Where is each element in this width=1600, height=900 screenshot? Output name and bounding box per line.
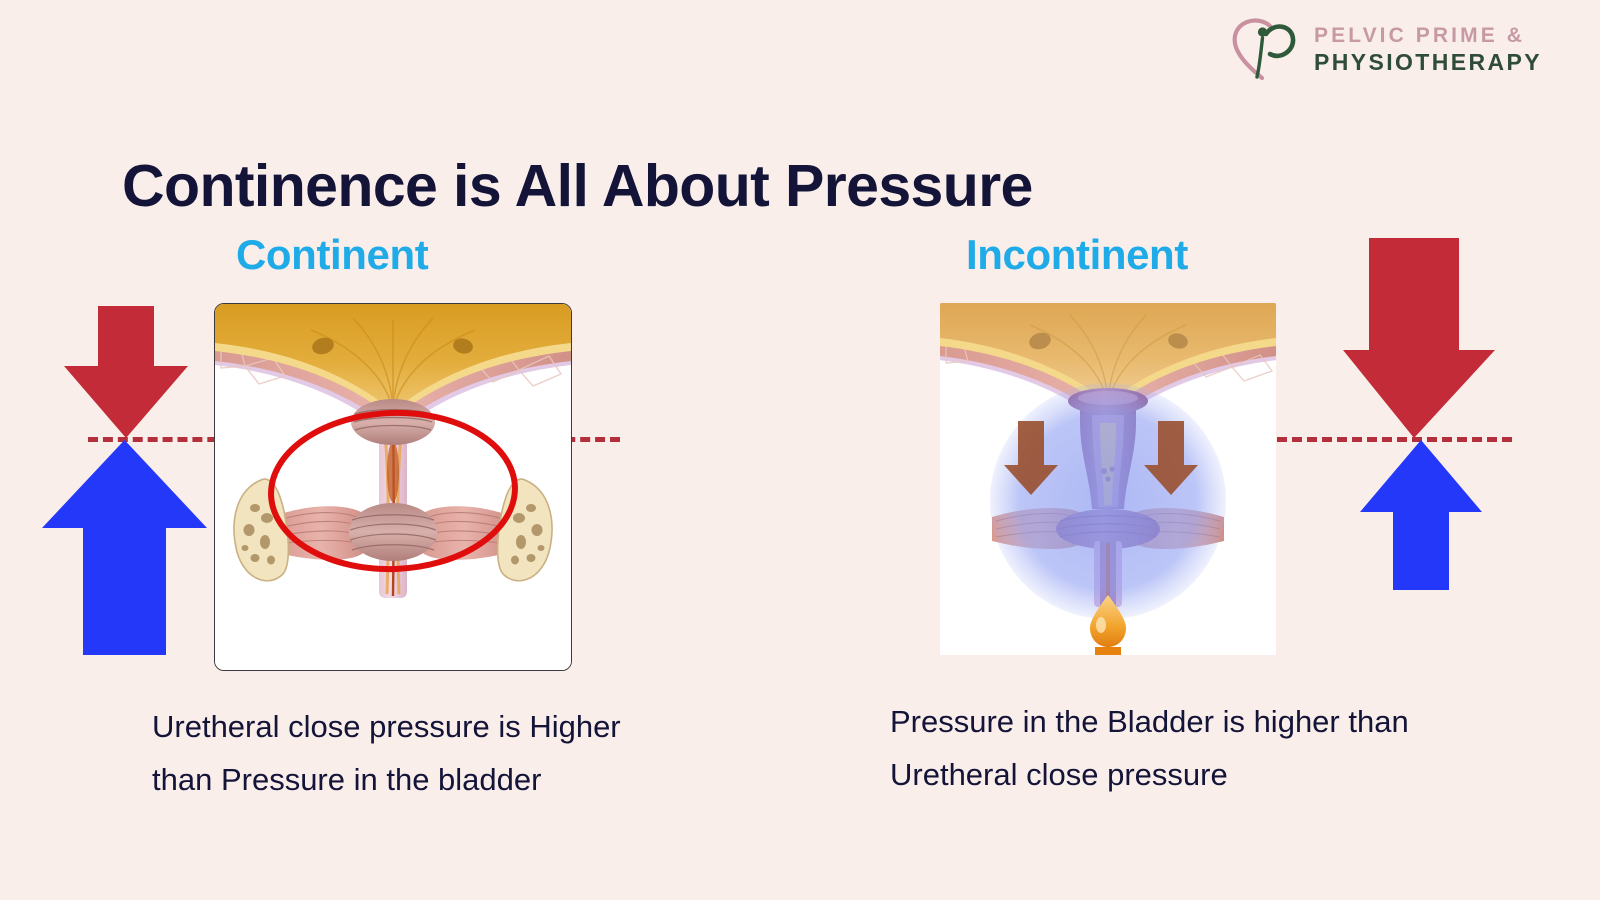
caption-incontinent: Pressure in the Bladder is higher than U… — [890, 695, 1435, 802]
column-heading-incontinent: Incontinent — [966, 231, 1188, 279]
page-title: Continence is All About Pressure — [122, 152, 1033, 220]
upward-closure-arrow-left — [42, 440, 207, 655]
brand-logo: PELVIC PRIME & PHYSIOTHERAPY — [1226, 14, 1542, 86]
brand-name-line-2: PHYSIOTHERAPY — [1314, 49, 1542, 76]
continent-bladder-urethra-diagram — [214, 303, 572, 671]
brand-name-line-1: PELVIC PRIME & — [1314, 24, 1542, 49]
slide-root: PELVIC PRIME & PHYSIOTHERAPY Continence … — [0, 0, 1600, 900]
downward-pressure-arrow-left — [64, 306, 188, 438]
upward-closure-arrow-right — [1360, 440, 1482, 590]
caption-continent: Uretheral close pressure is Higher than … — [152, 700, 682, 807]
column-heading-continent: Continent — [236, 231, 428, 279]
downward-pressure-arrow-right — [1343, 238, 1495, 438]
heart-figure-logo-icon — [1226, 14, 1300, 86]
brand-logo-text: PELVIC PRIME & PHYSIOTHERAPY — [1314, 24, 1542, 76]
incontinent-bladder-leakage-diagram — [940, 303, 1276, 655]
